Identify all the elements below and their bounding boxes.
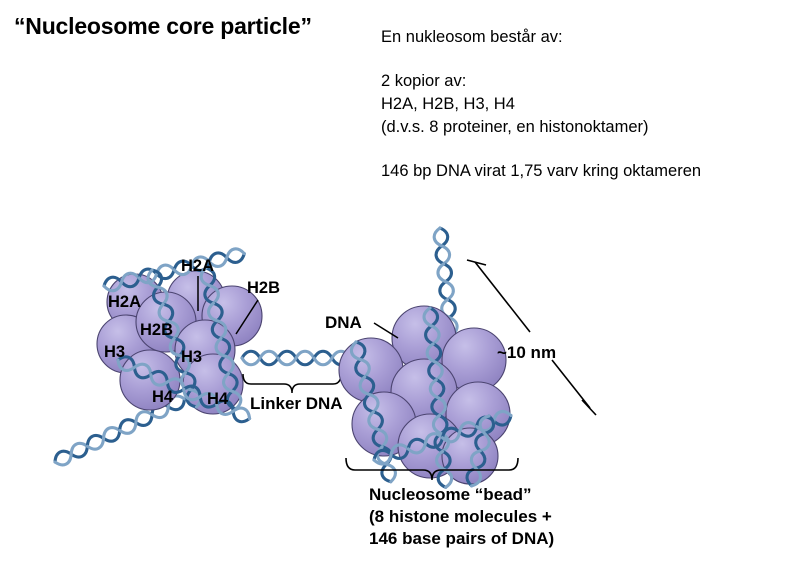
histone-label-h3-right: H3 (181, 348, 202, 366)
caption-line-3: 146 base pairs of DNA) (369, 529, 554, 548)
histone-label-h4-left: H4 (152, 388, 174, 406)
description-line: (d.v.s. 8 proteiner, en histonoktamer) (381, 116, 701, 139)
callout-label-dna: DNA (325, 313, 362, 332)
description-textblock: En nukleosom består av: 2 kopior av: H2A… (381, 26, 701, 183)
histone-label-h2a-left: H2A (108, 293, 141, 311)
caption-line-2: (8 histone molecules + (369, 507, 552, 526)
linker-dna-brace (243, 374, 341, 393)
description-line: En nukleosom består av: (381, 26, 701, 49)
description-paragraph-1: En nukleosom består av: (381, 26, 701, 49)
histone-label-h3-left: H3 (104, 343, 125, 361)
histone-label-h2b-left: H2B (140, 321, 173, 339)
callout-label-h2a: H2A (181, 257, 214, 275)
caption-line-1: Nucleosome “bead” (369, 485, 532, 504)
description-paragraph-2: 2 kopior av: H2A, H2B, H3, H4 (d.v.s. 8 … (381, 70, 701, 139)
linker-dna-label: Linker DNA (250, 394, 343, 413)
callout-dna: DNA (325, 313, 398, 338)
scale-bar-label: ~10 nm (497, 343, 556, 362)
slide-canvas: “Nucleosome core particle” En nukleosom … (0, 0, 802, 574)
right-nucleosome: DNA ~10 nm Nucleosome “bead” (8 histone … (325, 227, 596, 548)
description-line: H2A, H2B, H3, H4 (381, 93, 701, 116)
page-title: “Nucleosome core particle” (14, 13, 312, 40)
nucleosome-diagram: H2A H2B H3 H3 H4 H4 H2A H2B (0, 210, 802, 574)
callout-label-h2b: H2B (247, 279, 280, 297)
histone-label-h4-right: H4 (207, 390, 229, 408)
description-line: 2 kopior av: (381, 70, 701, 93)
description-line: 146 bp DNA virat 1,75 varv kring oktamer… (381, 160, 701, 183)
description-paragraph-3: 146 bp DNA virat 1,75 varv kring oktamer… (381, 160, 701, 183)
